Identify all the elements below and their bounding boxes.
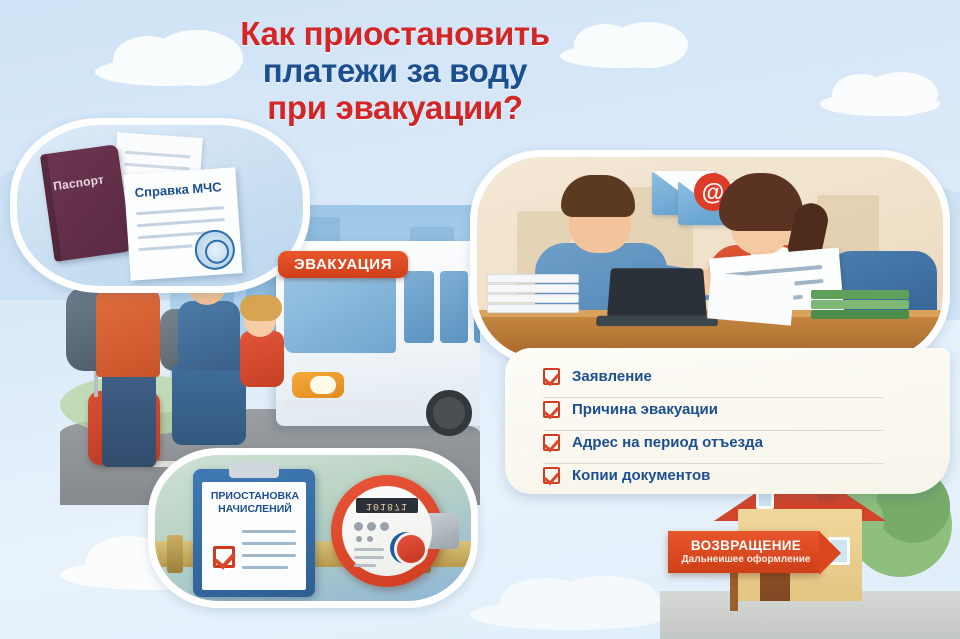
divider <box>543 430 883 431</box>
infographic-poster: Как приостановить платежи за воду при эв… <box>0 0 960 639</box>
mchs-emblem-icon <box>194 228 237 271</box>
document-stack <box>487 274 579 314</box>
clipboard-title-line-1: ПРИОСТАНОВКА <box>209 490 301 503</box>
checklist-item[interactable]: Адрес на период отъезда <box>543 434 763 451</box>
clipboard-clamp <box>229 462 279 478</box>
clipboard-paper: ПРИОСТАНОВКА НАЧИСЛЕНИЙ <box>202 482 306 590</box>
book-stack <box>811 290 909 320</box>
laptop <box>607 268 707 318</box>
water-meter: 101871 <box>331 475 443 587</box>
bus-windshield <box>284 269 396 353</box>
documents-panel: Паспорт Справка МЧС <box>10 118 310 293</box>
checklist-label: Адрес на период отъезда <box>572 434 763 451</box>
return-sign-title: ВОЗВРАЩЕНИЕ <box>678 538 814 553</box>
meter-valve-icon <box>394 532 428 566</box>
bus-bumper <box>282 400 422 412</box>
cloud-icon <box>470 600 670 630</box>
cloud-icon <box>820 92 940 116</box>
checklist-label: Копии документов <box>572 467 710 484</box>
return-sign-subtitle: Дальнеишее оформление <box>678 554 814 565</box>
title-line-2: платежи за воду <box>180 53 610 90</box>
certificate-label: Справка МЧС <box>134 179 222 200</box>
office-scene-panel: @ <box>470 150 950 365</box>
clerk-hair <box>719 173 803 231</box>
checklist-item[interactable]: Заявление <box>543 368 652 385</box>
checklist-item[interactable]: Копии документов <box>543 467 710 484</box>
poster-title: Как приостановить платежи за воду при эв… <box>180 16 610 127</box>
man-torso <box>96 285 160 377</box>
passport-label: Паспорт <box>52 172 104 193</box>
clipboard-checkbox-icon <box>213 546 235 568</box>
bus-wheel <box>426 390 472 436</box>
woman-skirt <box>172 365 246 445</box>
man-legs <box>102 371 156 467</box>
passport-document: Паспорт <box>40 144 132 262</box>
clipboard-title-line-2: НАЧИСЛЕНИЙ <box>209 503 301 516</box>
desk-document <box>707 272 795 325</box>
checkbox-checked-icon[interactable] <box>543 401 560 418</box>
meter-face: 101871 <box>342 486 432 576</box>
divider <box>543 397 883 398</box>
title-line-1: Как приостановить <box>180 16 610 53</box>
suspension-panel: ПРИОСТАНОВКА НАЧИСЛЕНИЙ 101871 <box>148 448 478 608</box>
checklist-label: Заявление <box>572 368 652 385</box>
divider <box>543 463 883 464</box>
evacuation-badge: ЭВАКУАЦИЯ <box>278 251 408 278</box>
checklist-label: Причина эвакуации <box>572 401 718 418</box>
title-line-3: при эвакуации? <box>180 90 610 127</box>
checkbox-checked-icon[interactable] <box>543 434 560 451</box>
sign-post <box>730 567 738 611</box>
clipboard-title: ПРИОСТАНОВКА НАЧИСЛЕНИЙ <box>209 490 301 516</box>
checkbox-checked-icon[interactable] <box>543 368 560 385</box>
mchs-certificate: Справка МЧС <box>123 167 242 281</box>
child-hair <box>240 295 282 321</box>
return-sign: ВОЗВРАЩЕНИЕ Дальнеишее оформление <box>668 531 820 573</box>
child-body <box>240 331 284 387</box>
documents-checklist: Заявление Причина эвакуации Адрес на пер… <box>505 348 950 494</box>
visitor-hair <box>561 175 635 217</box>
meter-display: 101871 <box>356 498 418 513</box>
clipboard: ПРИОСТАНОВКА НАЧИСЛЕНИЙ <box>193 469 315 597</box>
woman-torso <box>178 301 240 371</box>
checkbox-checked-icon[interactable] <box>543 467 560 484</box>
checklist-item[interactable]: Причина эвакуации <box>543 401 718 418</box>
